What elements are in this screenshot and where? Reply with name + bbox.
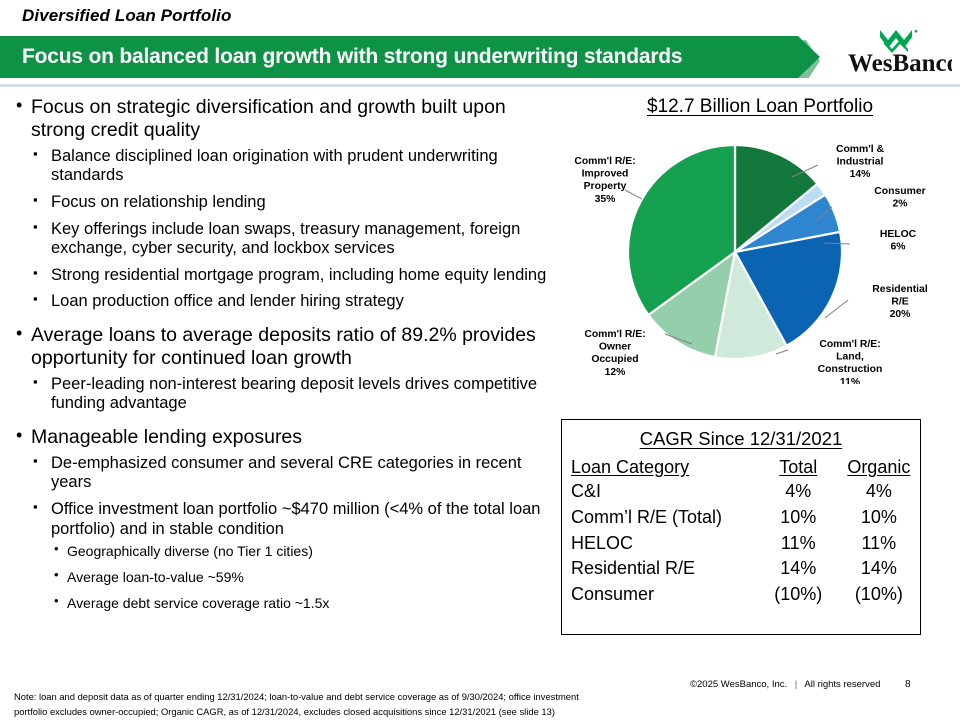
bullet-level3-text: Average loan-to-value ~59% <box>67 569 244 585</box>
pie-chart-svg: Comm'l &Industrial14%Consumer2%HELOC6%Re… <box>560 122 960 384</box>
cagr-cell-organic: 10% <box>838 505 920 531</box>
cagr-col-header-category: Loan Category <box>562 457 759 479</box>
bullet-level2-text: Key offerings include loan swaps, treasu… <box>51 220 520 258</box>
bullet-level2: Key offerings include loan swaps, treasu… <box>31 220 560 259</box>
bullet-level1-text: Focus on strategic diversification and g… <box>31 96 560 142</box>
bullet-level2: Balance disciplined loan origination wit… <box>31 147 560 186</box>
cagr-col-header-organic: Organic <box>838 457 920 479</box>
cagr-cell-category: Residential R/E <box>562 556 759 582</box>
cagr-table: Loan Category Total Organic C&I 4% 4% Co… <box>562 457 920 608</box>
wesbanco-logo: WesBanco <box>848 28 952 78</box>
cagr-cell-total: 14% <box>759 556 838 582</box>
bullet-level2: Loan production office and lender hiring… <box>31 292 560 312</box>
cagr-table-title: CAGR Since 12/31/2021 <box>562 428 920 450</box>
footer-rights-text: All rights reserved <box>804 679 880 690</box>
cagr-cell-category: HELOC <box>562 531 759 557</box>
footer-copyright-text: ©2025 WesBanco, Inc. <box>690 679 787 690</box>
cagr-cell-category: Comm’l R/E (Total) <box>562 505 759 531</box>
slide-root: Diversified Loan Portfolio Focus on bala… <box>0 0 960 720</box>
bullet-level3-text: Average debt service coverage ratio ~1.5… <box>67 595 329 611</box>
cagr-cell-total: (10%) <box>759 582 838 608</box>
bullet-level2-text: Office investment loan portfolio ~$470 m… <box>51 500 540 538</box>
cagr-cell-total: 11% <box>759 531 838 557</box>
cagr-col-header-total: Total <box>759 457 838 479</box>
cagr-cell-total: 4% <box>759 479 838 505</box>
bullet-level3-text: Geographically diverse (no Tier 1 cities… <box>67 543 313 559</box>
bullet-level2: Peer-leading non-interest bearing deposi… <box>31 375 560 414</box>
footer-page-number: 8 <box>905 679 911 690</box>
bullet-level2: Focus on relationship lending <box>31 193 560 213</box>
pie-slice-label: Comm'l R/E:OwnerOccupied12% <box>584 329 645 378</box>
footer-note-line-1: Note: loan and deposit data as of quarte… <box>14 690 704 705</box>
bullet-level2-text: De-emphasized consumer and several CRE c… <box>51 454 521 492</box>
cagr-cell-category: C&I <box>562 479 759 505</box>
cagr-table-panel: CAGR Since 12/31/2021 Loan Category Tota… <box>561 419 921 635</box>
pie-slice-label: Consumer2% <box>874 186 925 210</box>
bullet-level3: Geographically diverse (no Tier 1 cities… <box>51 543 560 560</box>
bullet-level2-text: Balance disciplined loan origination wit… <box>51 147 498 185</box>
pie-chart-title: $12.7 Billion Loan Portfolio <box>560 96 960 118</box>
table-row: Consumer (10%) (10%) <box>562 582 920 608</box>
cagr-cell-organic: 4% <box>838 479 920 505</box>
header-banner: Focus on balanced loan growth with stron… <box>0 36 820 78</box>
pie-slice-label: HELOC6% <box>880 229 917 253</box>
footer-separator: | <box>795 679 797 690</box>
bullet-level3: Average debt service coverage ratio ~1.5… <box>51 595 560 612</box>
bullet-level2: De-emphasized consumer and several CRE c… <box>31 454 560 493</box>
pie-slice-label: Comm'l R/E:Land,Construction11% <box>818 339 883 384</box>
header-banner-text: Focus on balanced loan growth with stron… <box>22 36 682 78</box>
body-bullet-list: Focus on strategic diversification and g… <box>14 96 560 621</box>
table-row: Comm’l R/E (Total) 10% 10% <box>562 505 920 531</box>
pie-chart: Comm'l &Industrial14%Consumer2%HELOC6%Re… <box>560 122 960 384</box>
bullet-level2-text: Focus on relationship lending <box>51 193 266 211</box>
bullet-level2-text: Peer-leading non-interest bearing deposi… <box>51 375 537 413</box>
header-divider-rule <box>0 84 960 87</box>
slide-eyebrow-title: Diversified Loan Portfolio <box>22 6 231 26</box>
table-row: Residential R/E 14% 14% <box>562 556 920 582</box>
bullet-level1: Average loans to average deposits ratio … <box>14 324 560 414</box>
cagr-cell-category: Consumer <box>562 582 759 608</box>
bullet-level1: Manageable lending exposures De-emphasiz… <box>14 426 560 612</box>
bullet-level1-text: Manageable lending exposures <box>31 426 560 449</box>
pie-slice-label: Comm'l &Industrial14% <box>836 144 885 180</box>
bullet-level3: Average loan-to-value ~59% <box>51 569 560 586</box>
bullet-level1-text: Average loans to average deposits ratio … <box>31 324 560 370</box>
table-row: HELOC 11% 11% <box>562 531 920 557</box>
footer-note-line-2: portfolio excludes owner-occupied; Organ… <box>14 705 704 720</box>
table-row: C&I 4% 4% <box>562 479 920 505</box>
bullet-level2-text: Loan production office and lender hiring… <box>51 292 404 310</box>
bullet-level1: Focus on strategic diversification and g… <box>14 96 560 312</box>
cagr-cell-organic: 11% <box>838 531 920 557</box>
pie-slice-label: ResidentialR/E20% <box>872 284 928 320</box>
cagr-cell-total: 10% <box>759 505 838 531</box>
footer-copyright: ©2025 WesBanco, Inc. | All rights reserv… <box>690 679 880 690</box>
wesbanco-logo-svg: WesBanco <box>848 28 952 78</box>
bullet-level2-text: Strong residential mortgage program, inc… <box>51 266 546 284</box>
wesbanco-wordmark: WesBanco <box>848 50 952 77</box>
pie-slice-group <box>628 145 842 359</box>
bullet-level2: Office investment loan portfolio ~$470 m… <box>31 500 560 612</box>
cagr-cell-organic: 14% <box>838 556 920 582</box>
cagr-cell-organic: (10%) <box>838 582 920 608</box>
cagr-table-header-row: Loan Category Total Organic <box>562 457 920 479</box>
pie-slice-label: Comm'l R/E:ImprovedProperty35% <box>574 156 635 205</box>
footer-note: Note: loan and deposit data as of quarte… <box>14 690 704 719</box>
bullet-level2: Strong residential mortgage program, inc… <box>31 266 560 286</box>
